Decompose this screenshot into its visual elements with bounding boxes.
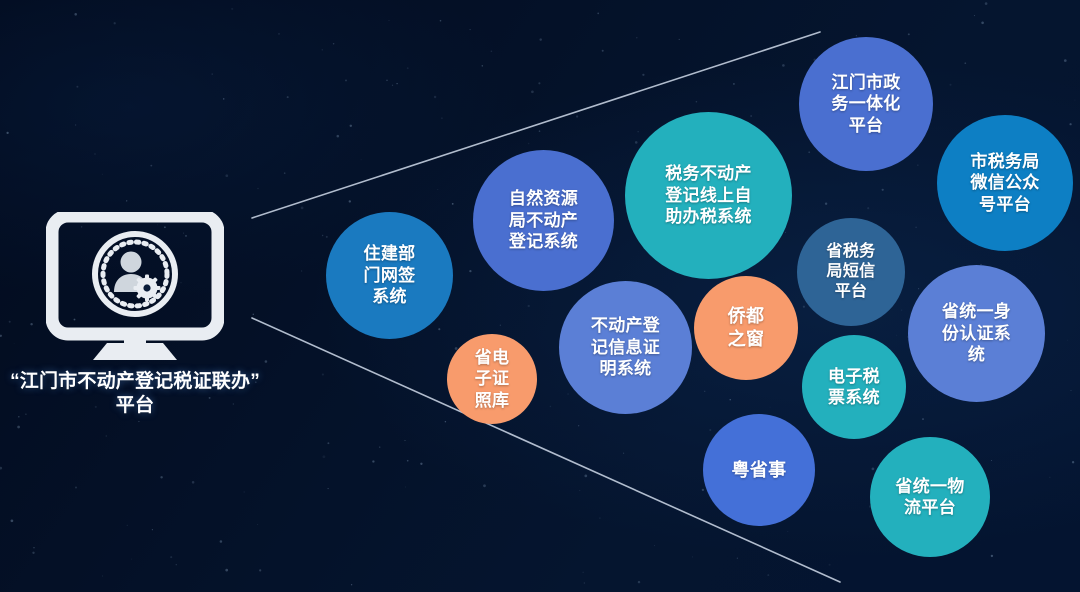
system-bubble-label-line: 统 — [914, 344, 1039, 365]
system-bubble-label-line: 税务不动产 — [631, 163, 786, 184]
system-bubble-label-line: 江门市政 — [805, 72, 927, 93]
system-bubble-zhujianbumen-wangqian[interactable]: 住建部门网签系统 — [326, 212, 453, 339]
system-bubble-label: 省统一身份认证系统 — [914, 301, 1039, 365]
system-bubble-sheng-tongyi-wuliu[interactable]: 省统一物流平台 — [870, 437, 990, 557]
system-bubble-qiaodu-zhichuang[interactable]: 侨都之窗 — [694, 276, 798, 380]
platform-caption-line2: 平台 — [10, 394, 260, 418]
system-bubble-label: 侨都之窗 — [700, 305, 792, 350]
system-bubble-label-line: 省统一物 — [876, 476, 984, 497]
system-bubble-sheng-shuiwuju-duanxin[interactable]: 省税务局短信平台 — [797, 218, 905, 326]
system-bubble-label: 不动产登记信息证明系统 — [565, 315, 686, 379]
system-bubble-label-line: 省电 — [453, 347, 531, 368]
system-bubble-ziran-ziyuanju-budongchan[interactable]: 自然资源局不动产登记系统 — [473, 150, 614, 291]
system-bubble-label-line: 电子税 — [808, 366, 900, 387]
system-bubble-label-line: 住建部 — [332, 243, 447, 264]
system-bubble-label-line: 局短信 — [803, 262, 899, 282]
system-bubble-label-line: 登记系统 — [479, 231, 608, 252]
system-bubble-label-line: 系统 — [332, 286, 447, 307]
system-bubble-label-line: 省统一身 — [914, 301, 1039, 322]
system-bubble-label: 粤省事 — [709, 459, 809, 482]
platform-identity-block: “江门市不动产登记税证联办” 平台 — [10, 212, 260, 419]
system-bubble-label: 省电子证照库 — [453, 347, 531, 411]
system-bubble-yuesheng-shi[interactable]: 粤省事 — [703, 414, 815, 526]
system-bubble-label-line: 省税务 — [803, 242, 899, 262]
system-bubble-label: 省统一物流平台 — [876, 476, 984, 519]
system-bubble-label: 电子税票系统 — [808, 366, 900, 409]
system-bubble-label-line: 记信息证 — [565, 337, 686, 358]
system-bubble-label-line: 照库 — [453, 390, 531, 411]
system-bubble-label-line: 平台 — [805, 115, 927, 136]
system-bubble-label: 省税务局短信平台 — [803, 242, 899, 302]
infographic-canvas: “江门市不动产登记税证联办” 平台 住建部门网签系统自然资源局不动产登记系统税务… — [0, 0, 1080, 592]
system-bubble-dianzi-shuipiao[interactable]: 电子税票系统 — [802, 335, 906, 439]
system-bubble-label-line: 票系统 — [808, 387, 900, 408]
system-bubble-label-line: 市税务局 — [943, 151, 1067, 172]
system-bubble-label-line: 粤省事 — [709, 459, 809, 482]
system-bubble-label-line: 侨都 — [700, 305, 792, 328]
system-bubble-label-line: 号平台 — [943, 194, 1067, 215]
system-bubble-label: 税务不动产登记线上自助办税系统 — [631, 163, 786, 227]
system-bubble-shuiwu-budongchan-zizhu[interactable]: 税务不动产登记线上自助办税系统 — [625, 112, 792, 279]
system-bubble-shi-shuiwuju-weixin[interactable]: 市税务局微信公众号平台 — [937, 115, 1073, 251]
system-bubble-label-line: 微信公众 — [943, 172, 1067, 193]
system-bubble-label-line: 局不动产 — [479, 210, 608, 231]
system-bubble-label-line: 子证 — [453, 368, 531, 389]
system-bubble-label: 市税务局微信公众号平台 — [943, 151, 1067, 215]
monitor-user-gear-icon — [46, 212, 224, 362]
system-bubble-label-line: 明系统 — [565, 358, 686, 379]
system-bubble-label-line: 自然资源 — [479, 188, 608, 209]
system-bubble-label-line: 不动产登 — [565, 315, 686, 336]
system-bubble-budongchan-dengji-xinxi[interactable]: 不动产登记信息证明系统 — [559, 281, 692, 414]
system-bubble-jiangmen-zhengwu-yitihua[interactable]: 江门市政务一体化平台 — [799, 37, 933, 171]
system-bubble-label-line: 助办税系统 — [631, 206, 786, 227]
system-bubble-sheng-dianzi-zhengzhaoku[interactable]: 省电子证照库 — [447, 334, 537, 424]
system-bubble-label: 江门市政务一体化平台 — [805, 72, 927, 136]
system-bubble-label-line: 门网签 — [332, 265, 447, 286]
system-bubble-label: 住建部门网签系统 — [332, 243, 447, 307]
system-bubble-label-line: 务一体化 — [805, 93, 927, 114]
system-bubble-label-line: 份认证系 — [914, 323, 1039, 344]
system-bubble-label-line: 平台 — [803, 282, 899, 302]
system-bubble-label-line: 登记线上自 — [631, 185, 786, 206]
platform-caption-line1: “江门市不动产登记税证联办” — [10, 370, 260, 394]
system-bubble-sheng-tongyi-shenfen-renzheng[interactable]: 省统一身份认证系统 — [908, 265, 1045, 402]
system-bubble-label-line: 流平台 — [876, 497, 984, 518]
system-bubble-label: 自然资源局不动产登记系统 — [479, 188, 608, 252]
system-bubble-label-line: 之窗 — [700, 328, 792, 351]
page-title: “江门市不动产登记税证联办” 平台 — [10, 370, 260, 419]
